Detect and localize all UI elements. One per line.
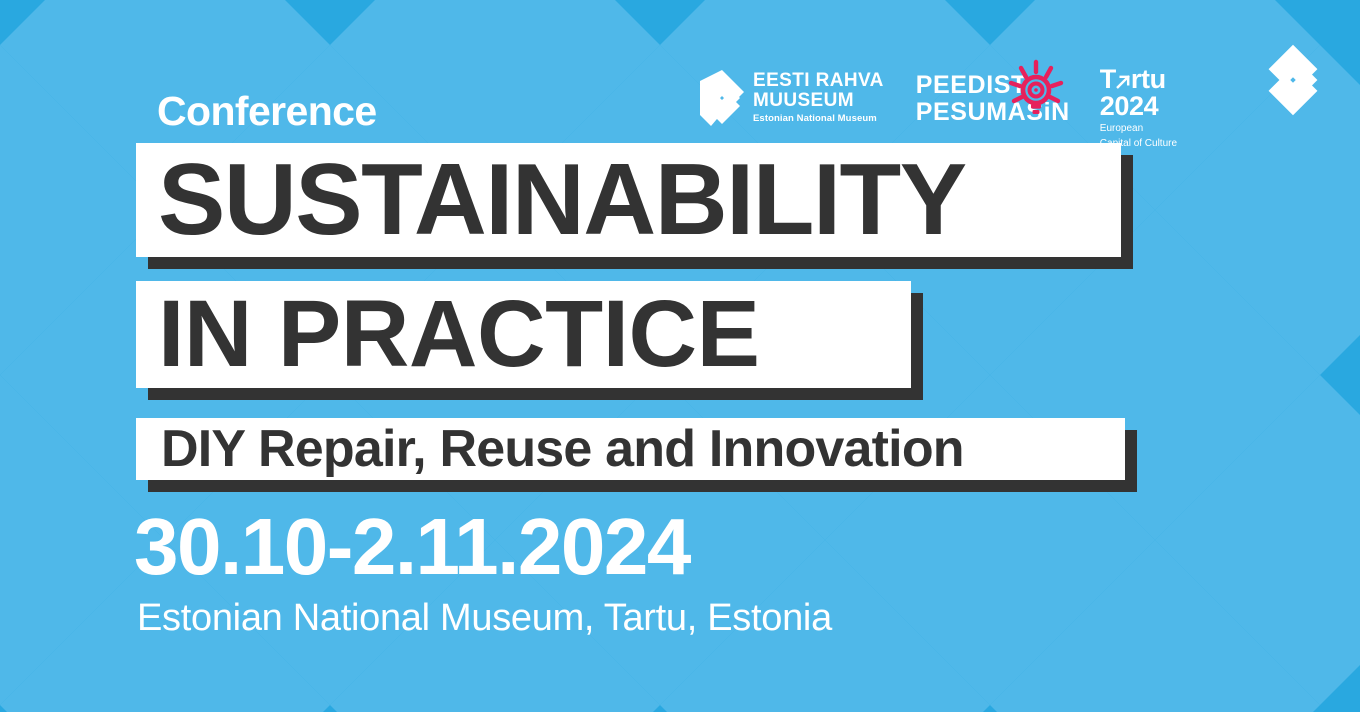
subtitle-box: DIY Repair, Reuse and Innovation xyxy=(136,418,1125,480)
erm-diamond-mark-icon xyxy=(700,70,744,126)
partner-logo-strip: EESTI RAHVA MUUSEUM Estonian National Mu… xyxy=(700,62,1177,134)
title-line-1: SUSTAINABILITY xyxy=(158,150,966,251)
event-venue: Estonian National Museum, Tartu, Estonia xyxy=(137,596,832,640)
tartu-sub-line2: Capital of Culture xyxy=(1100,138,1177,150)
title-line-1-box: SUSTAINABILITY xyxy=(136,143,1121,257)
erm-line1: EESTI RAHVA xyxy=(753,71,884,91)
erm-line3: Estonian National Museum xyxy=(753,112,884,125)
tartu-word-tail: rtu xyxy=(1131,66,1166,92)
arrow-a-glyph-icon xyxy=(1116,74,1131,89)
erm-wordmark: EESTI RAHVA MUUSEUM Estonian National Mu… xyxy=(753,71,884,125)
subtitle: DIY Repair, Reuse and Innovation xyxy=(161,423,964,475)
lightbulb-target-icon xyxy=(1006,59,1066,121)
tartu-word-head: T xyxy=(1100,66,1116,92)
logo-peedist-pesumasin[interactable]: PEEDIST PESUMASiN xyxy=(916,72,1070,126)
event-dates: 30.10-2.11.2024 xyxy=(134,505,690,589)
kicker-conference: Conference xyxy=(157,88,377,134)
conference-poster: EESTI RAHVA MUUSEUM Estonian National Mu… xyxy=(0,0,1360,712)
title-line-2: IN PRACTICE xyxy=(158,287,759,382)
tartu-sub-line1: European xyxy=(1100,123,1177,135)
logo-tartu-2024[interactable]: T rtu 2024 European Capital of Culture xyxy=(1100,66,1177,150)
tartu-wordmark: T rtu xyxy=(1100,66,1177,92)
erm-line2: MUUSEUM xyxy=(753,91,884,111)
title-line-2-box: IN PRACTICE xyxy=(136,281,911,388)
corner-erm-diamond-mark-icon xyxy=(1262,42,1324,118)
tartu-year: 2024 xyxy=(1100,92,1177,120)
logo-estonian-national-museum[interactable]: EESTI RAHVA MUUSEUM Estonian National Mu… xyxy=(700,70,884,126)
